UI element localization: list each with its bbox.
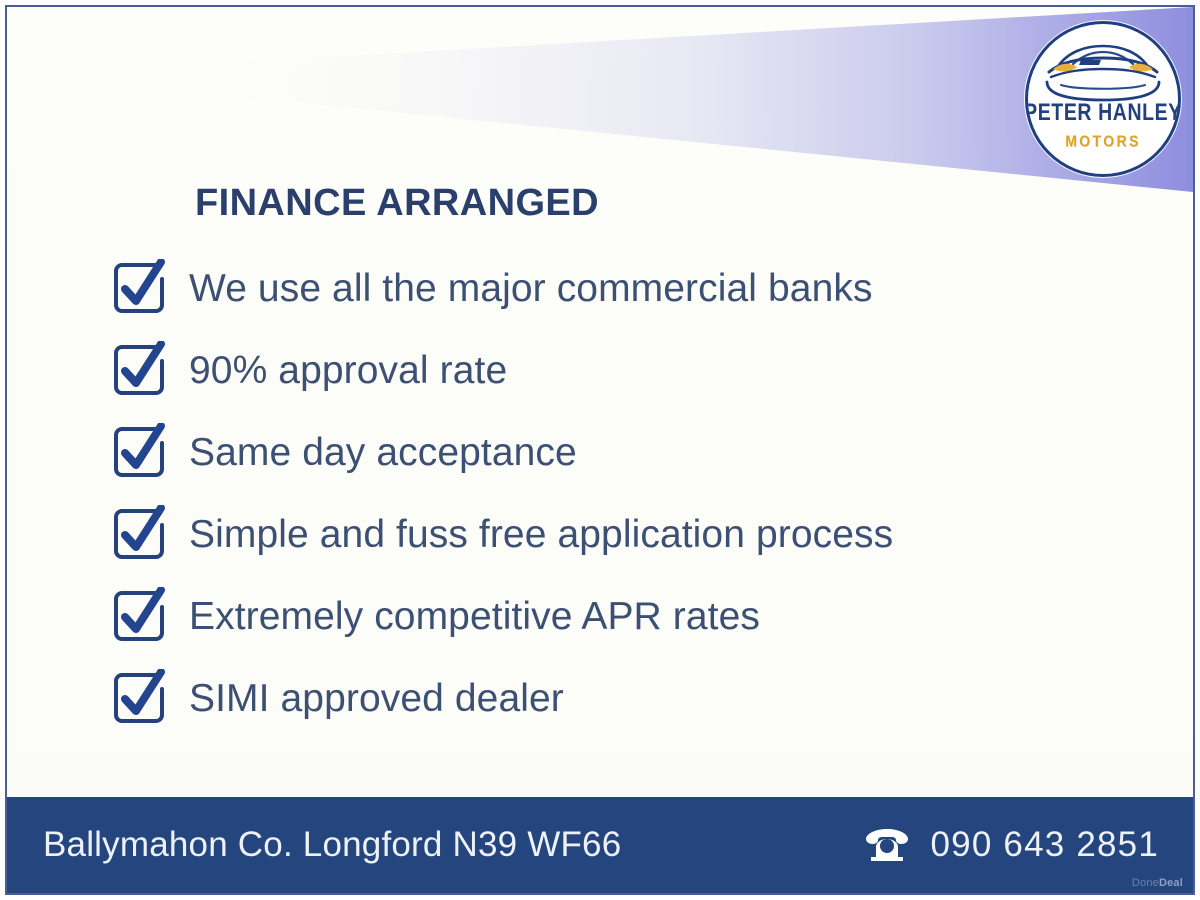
donedeal-watermark: DoneDeal xyxy=(1132,877,1183,889)
checkbox-checked-icon xyxy=(111,669,167,727)
list-item-label: We use all the major commercial banks xyxy=(189,269,873,308)
logo-name: PETER HANLEY xyxy=(1025,99,1181,127)
poster: PETER HANLEY MOTORS FINANCE ARRANGED We … xyxy=(0,0,1200,900)
list-item-label: Same day acceptance xyxy=(189,433,577,472)
benefits-list: We use all the major commercial banks 90… xyxy=(111,247,1161,739)
dealer-logo: PETER HANLEY MOTORS xyxy=(1025,21,1181,177)
address-text: Ballymahon Co. Longford N39 WF66 xyxy=(43,825,621,865)
poster-card: PETER HANLEY MOTORS FINANCE ARRANGED We … xyxy=(5,5,1195,895)
list-item-label: 90% approval rate xyxy=(189,351,507,390)
contact-footer: Ballymahon Co. Longford N39 WF66 090 643… xyxy=(7,797,1193,893)
list-item: Same day acceptance xyxy=(111,411,1161,493)
phone-number: 090 643 2851 xyxy=(930,825,1159,865)
checkbox-checked-icon xyxy=(111,341,167,399)
list-item: SIMI approved dealer xyxy=(111,657,1161,739)
list-item: We use all the major commercial banks xyxy=(111,247,1161,329)
telephone-icon xyxy=(864,827,910,863)
logo-subtitle: MOTORS xyxy=(1065,132,1141,150)
list-item: 90% approval rate xyxy=(111,329,1161,411)
list-item: Extremely competitive APR rates xyxy=(111,575,1161,657)
list-item-label: Extremely competitive APR rates xyxy=(189,597,760,636)
phone-block[interactable]: 090 643 2851 xyxy=(864,825,1159,865)
list-item: Simple and fuss free application process xyxy=(111,493,1161,575)
checkbox-checked-icon xyxy=(111,259,167,317)
list-item-label: SIMI approved dealer xyxy=(189,679,564,718)
car-front-logo-icon xyxy=(1037,38,1169,104)
checkbox-checked-icon xyxy=(111,423,167,481)
checkbox-checked-icon xyxy=(111,587,167,645)
list-item-label: Simple and fuss free application process xyxy=(189,515,893,554)
watermark-prefix: Done xyxy=(1132,877,1159,889)
watermark-suffix: Deal xyxy=(1159,877,1183,889)
page-title: FINANCE ARRANGED xyxy=(195,182,599,225)
checkbox-checked-icon xyxy=(111,505,167,563)
